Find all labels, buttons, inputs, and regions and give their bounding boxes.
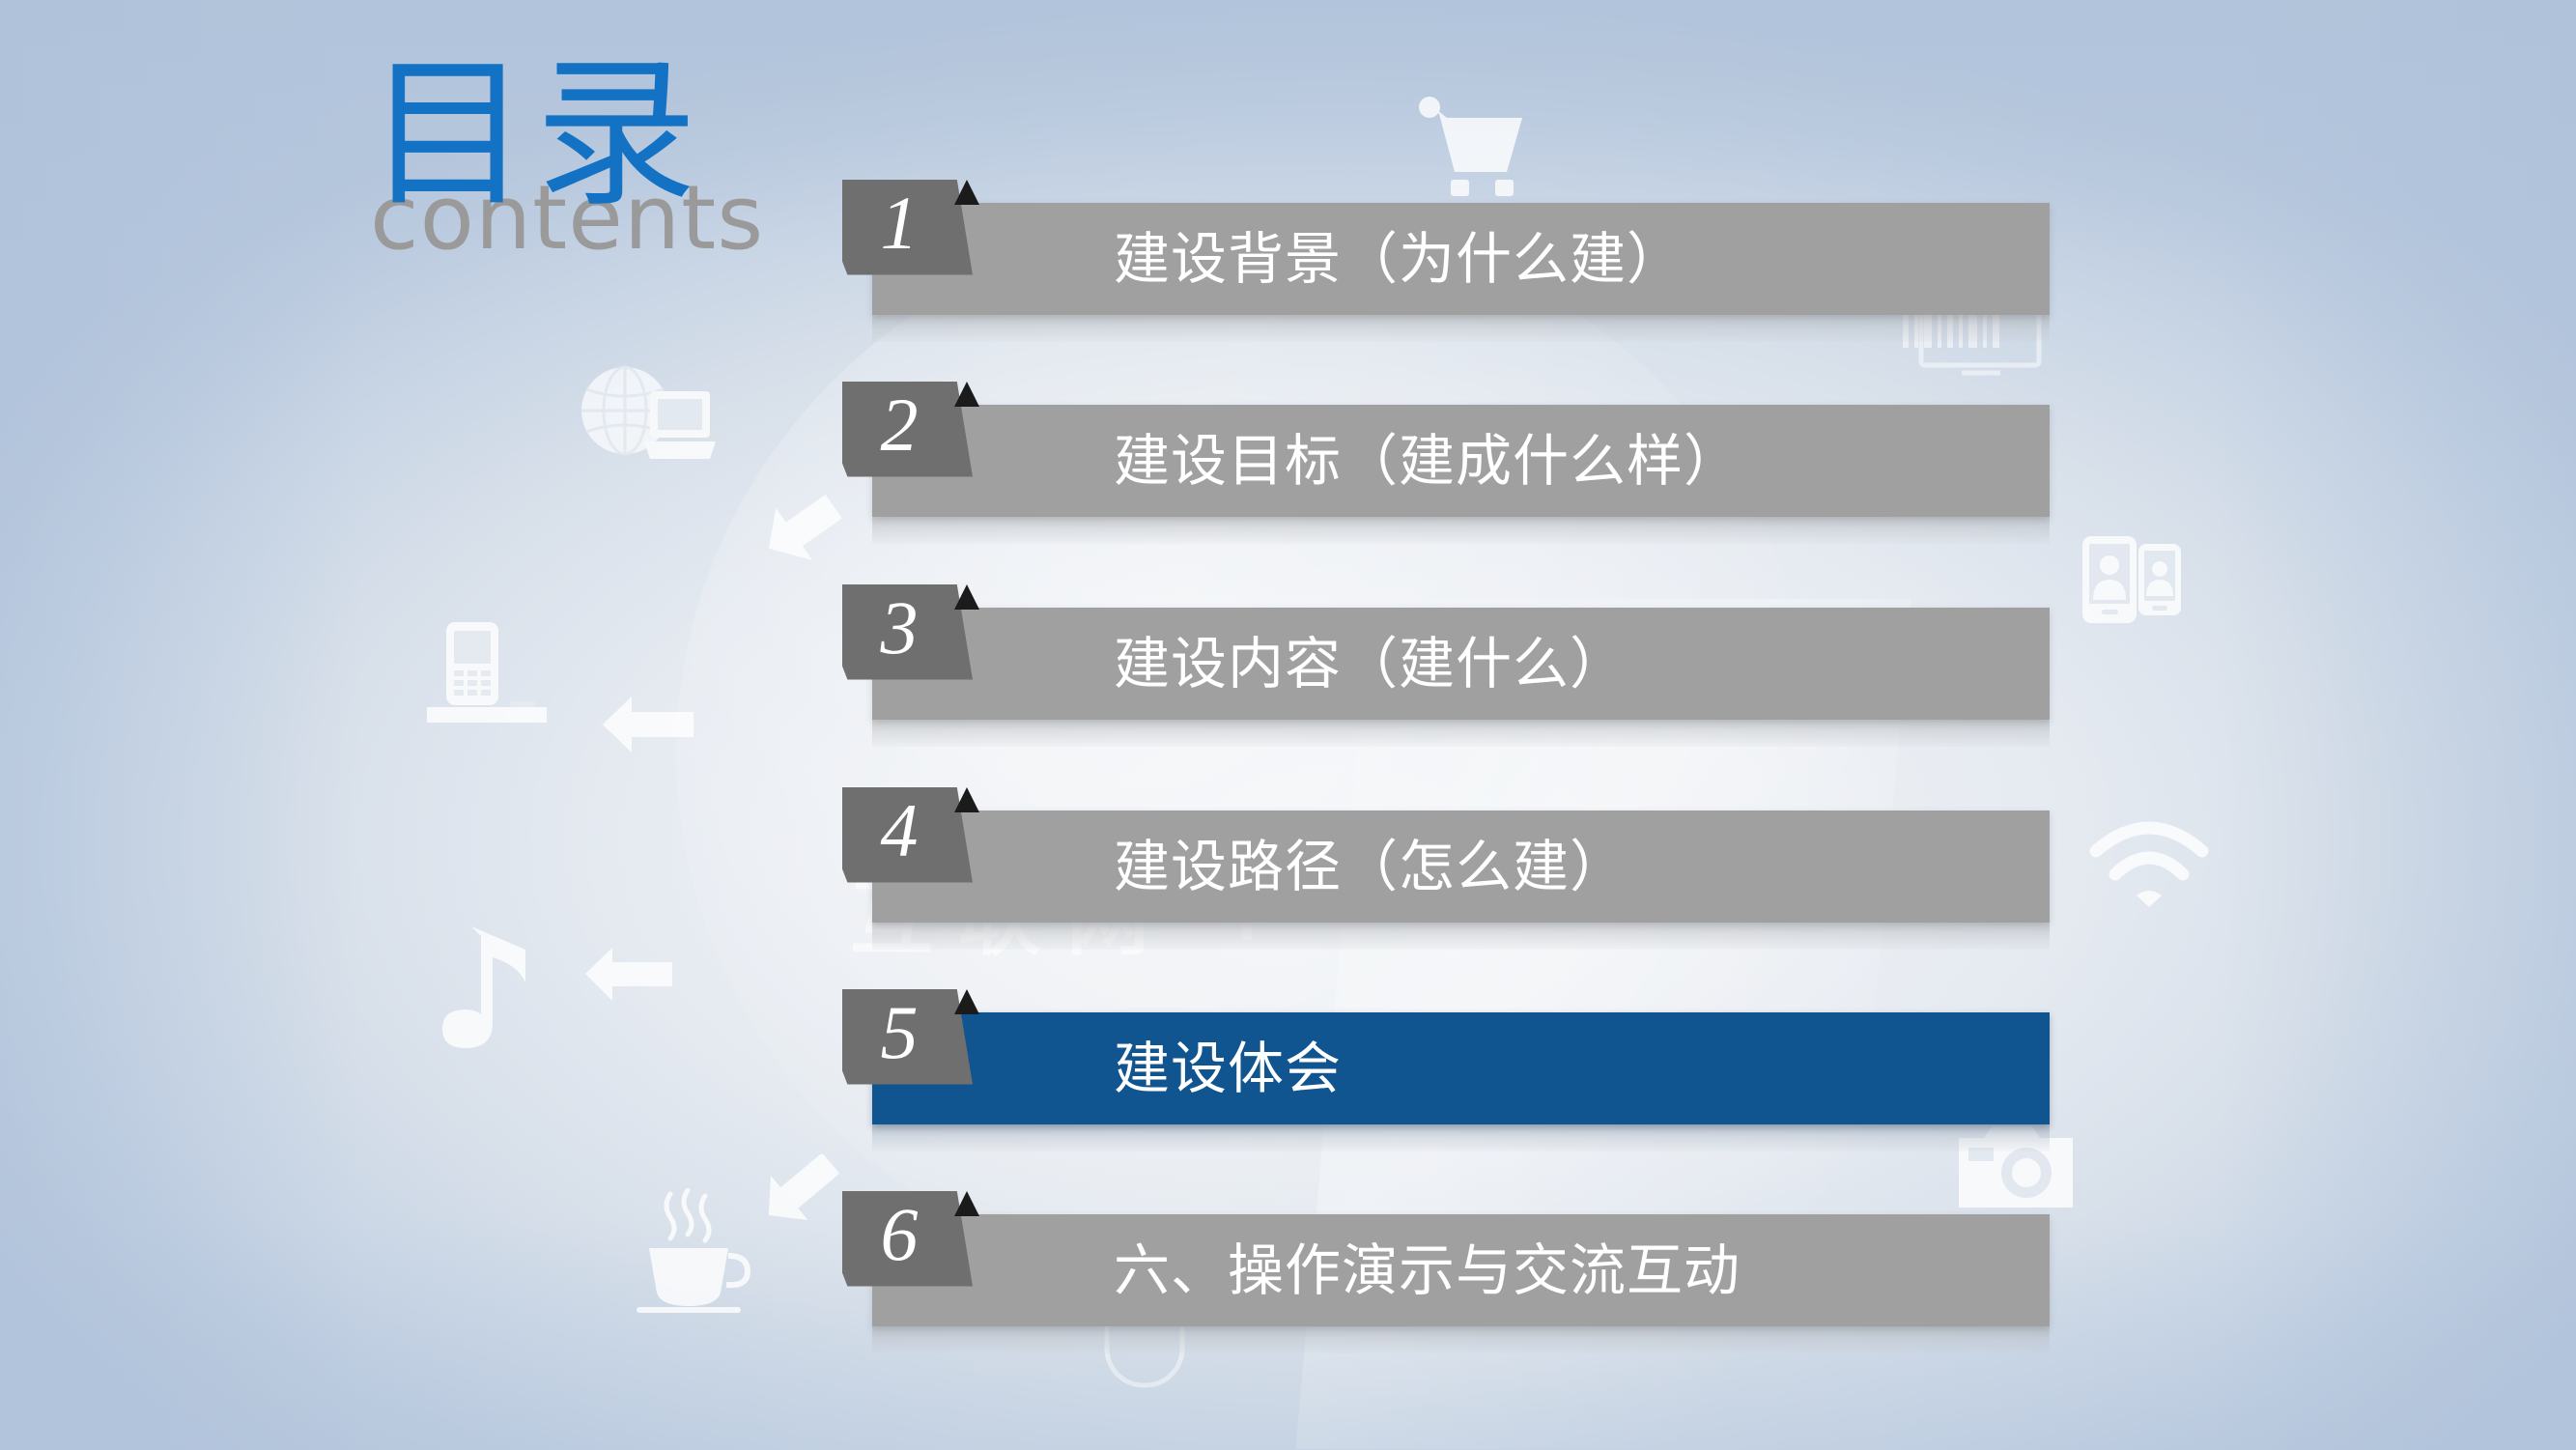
contents-row-label: 六、操作演示与交流互动 (1114, 1214, 1741, 1326)
contents-row[interactable]: 建设背景（为什么建）1 (842, 180, 2050, 383)
contents-row-number: 5 (842, 995, 956, 1070)
contents-row-reflection (872, 313, 2050, 342)
contents-row-label: 建设路径（怎么建） (1114, 810, 1627, 923)
contents-row-reflection (872, 921, 2050, 950)
contents-row-number: 4 (842, 793, 956, 868)
contents-row-reflection (872, 515, 2050, 544)
contents-row-bar[interactable]: 建设路径（怎么建） (872, 810, 2050, 923)
presentation-slide: 互联网 + (0, 0, 2576, 1450)
contents-row-notch-icon (954, 180, 979, 205)
contents-row-notch-icon (954, 989, 979, 1014)
contents-row-bar[interactable]: 六、操作演示与交流互动 (872, 1214, 2050, 1326)
contents-row-label: 建设体会 (1114, 1012, 1342, 1124)
contents-row-bar[interactable]: 建设目标（建成什么样） (872, 405, 2050, 517)
contents-row-notch-icon (954, 584, 979, 610)
contents-row-label: 建设目标（建成什么样） (1114, 405, 1741, 517)
contents-row[interactable]: 建设目标（建成什么样）2 (842, 382, 2050, 584)
contents-row-label: 建设内容（建什么） (1114, 608, 1627, 720)
contents-row-label: 建设背景（为什么建） (1114, 203, 1684, 315)
contents-row-reflection (872, 1123, 2050, 1151)
contents-row-number: 2 (842, 387, 956, 463)
contents-row-reflection (872, 718, 2050, 747)
contents-row-number: 3 (842, 590, 956, 666)
contents-row-notch-icon (954, 787, 979, 812)
contents-row-notch-icon (954, 382, 979, 407)
contents-row[interactable]: 六、操作演示与交流互动6 (842, 1191, 2050, 1394)
contents-row-number: 6 (842, 1197, 956, 1272)
contents-row-reflection (872, 1324, 2050, 1353)
contents-list: 建设背景（为什么建）1建设目标（建成什么样）2建设内容（建什么）3建设路径（怎么… (0, 0, 2576, 1450)
contents-row-notch-icon (954, 1191, 979, 1216)
contents-row[interactable]: 建设体会5 (842, 989, 2050, 1192)
contents-row-bar[interactable]: 建设体会 (872, 1012, 2050, 1124)
contents-row-bar[interactable]: 建设背景（为什么建） (872, 203, 2050, 315)
contents-row-bar[interactable]: 建设内容（建什么） (872, 608, 2050, 720)
contents-row-number: 1 (842, 185, 956, 261)
contents-row[interactable]: 建设内容（建什么）3 (842, 584, 2050, 787)
contents-row[interactable]: 建设路径（怎么建）4 (842, 787, 2050, 990)
